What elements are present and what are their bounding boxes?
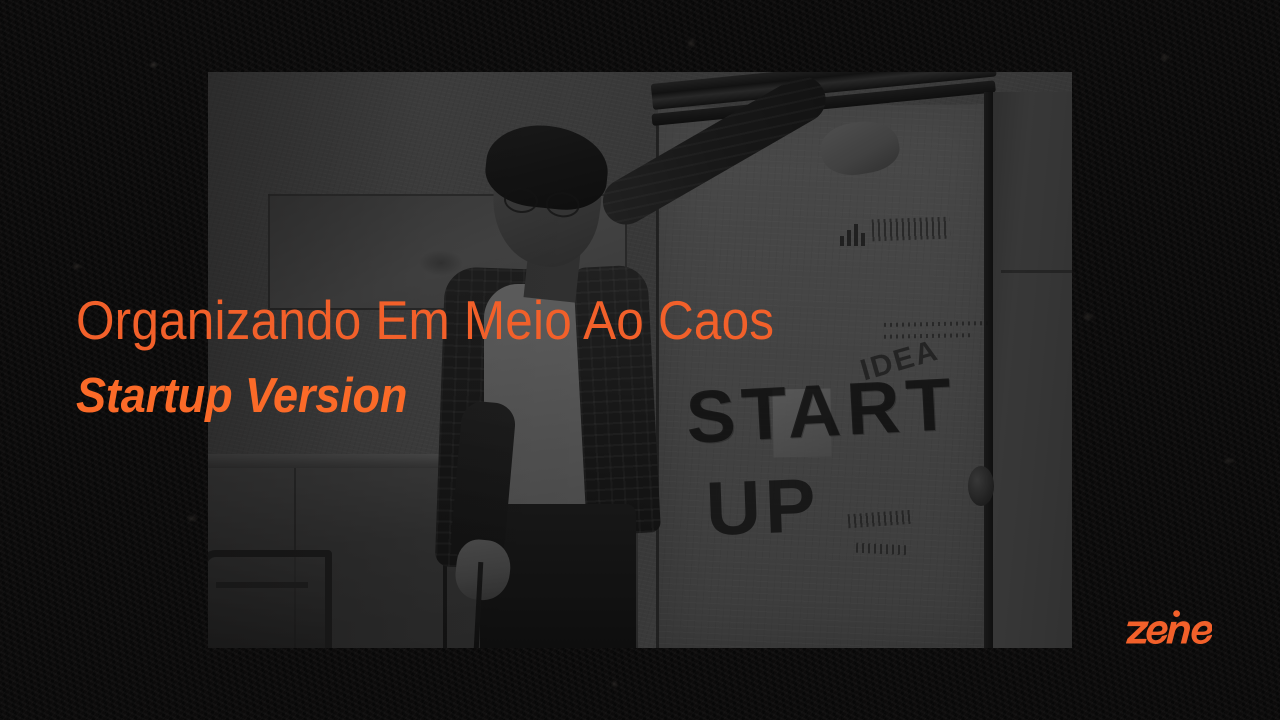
photo-left-fade [208,72,1072,648]
slide-subtitle: Startup Version [76,371,407,422]
zene-logo-icon [1126,604,1212,650]
zene-logo[interactable] [1126,604,1212,650]
slide-title: Organizando Em Meio Ao Caos [76,292,774,350]
slide-photo: START UP IDEA [208,72,1072,648]
presentation-slide: START UP IDEA [0,0,1280,720]
